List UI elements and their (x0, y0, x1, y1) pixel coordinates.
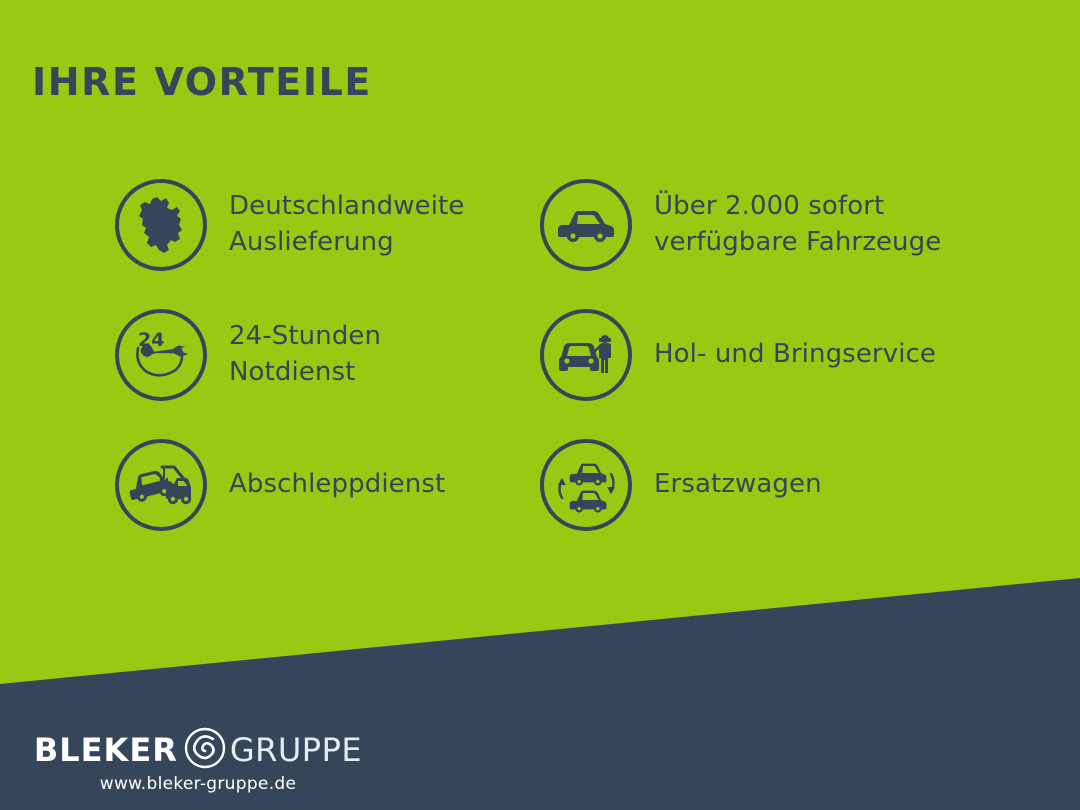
benefit-label: Hol- und Bringservice (654, 337, 936, 373)
benefit-item-verfuegbare-fahrzeuge: Über 2.000 sofort verfügbare Fahrzeuge (540, 160, 980, 290)
benefit-label: Abschleppdienst (229, 467, 445, 503)
car-exchange-icon (540, 439, 632, 531)
benefit-item-deutschlandweite-auslieferung: Deutschlandweite Auslieferung (115, 160, 540, 290)
benefit-label: Über 2.000 sofort verfügbare Fahrzeuge (654, 189, 941, 261)
tow-truck-icon (115, 439, 207, 531)
slide-root: IHRE VORTEILE Deutschlandweite Ausliefer… (0, 0, 1080, 810)
benefit-item-hol-und-bringservice: Hol- und Bringservice (540, 290, 980, 420)
logo-secondary-text: GRUPPE (230, 731, 362, 769)
benefit-item-24-stunden-notdienst: 24 24-Stunden Notdienst (115, 290, 540, 420)
logo-row: BLEKER GRUPPE (28, 728, 368, 772)
wrench-24h-icon: 24 (115, 309, 207, 401)
footer-logo-block: BLEKER GRUPPE www.bleker-gruppe.de (28, 728, 368, 794)
footer-url: www.bleker-gruppe.de (28, 774, 368, 794)
germany-map-icon (115, 179, 207, 271)
benefit-label: 24-Stunden Notdienst (229, 319, 381, 391)
benefit-label: Ersatzwagen (654, 467, 822, 503)
benefit-item-ersatzwagen: Ersatzwagen (540, 420, 980, 550)
page-title: IHRE VORTEILE (32, 63, 372, 101)
logo-primary-text: BLEKER (34, 731, 178, 769)
benefit-item-abschleppdienst: Abschleppdienst (115, 420, 540, 550)
car-side-icon (540, 179, 632, 271)
car-valet-icon (540, 309, 632, 401)
benefits-grid: Deutschlandweite Auslieferung Über 2.000… (0, 160, 1080, 550)
spiral-logo-icon (182, 725, 228, 775)
benefit-label: Deutschlandweite Auslieferung (229, 189, 464, 261)
